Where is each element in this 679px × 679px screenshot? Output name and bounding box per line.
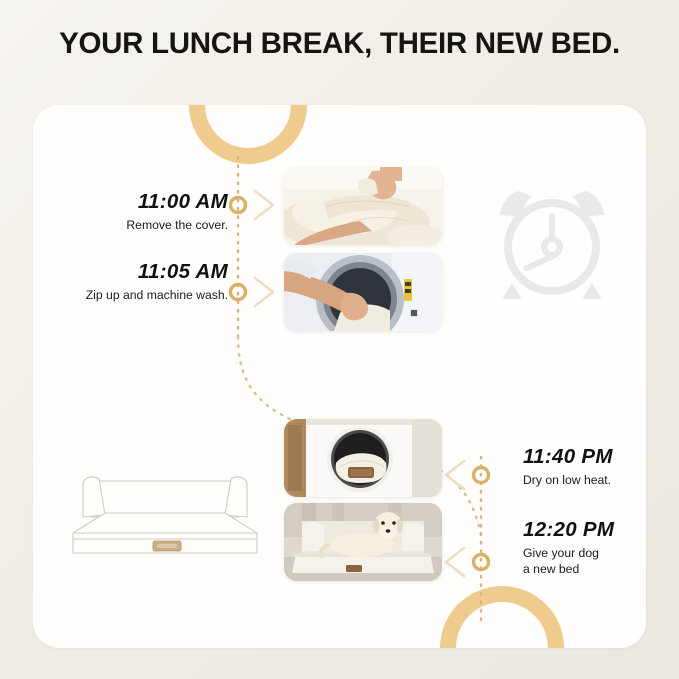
step-1-description: Remove the cover. (73, 217, 228, 233)
step-2-description: Zip up and machine wash. (53, 287, 228, 303)
dog-bed-line-drawing (61, 455, 271, 575)
step-2-time: 11:05 AM (53, 260, 228, 284)
page-title: YOUR LUNCH BREAK, THEIR NEW BED. (0, 27, 679, 61)
step-4-time: 12:20 PM (523, 518, 646, 542)
step-3-text-block: 11:40 PM Dry on low heat. (523, 445, 646, 488)
step-1-time: 11:00 AM (73, 190, 228, 214)
step-3-time: 11:40 PM (523, 445, 646, 469)
step-4-description: Give your dog a new bed (523, 545, 646, 577)
step-2-text-block: 11:05 AM Zip up and machine wash. (53, 260, 228, 303)
infographic-card: 11:00 AM Remove the cover. 11:05 AM Zip … (33, 105, 646, 648)
dryer-photo (284, 419, 442, 497)
alarm-clock-icon (488, 175, 616, 303)
decorative-arc-bottom-icon (440, 586, 564, 648)
step-4-text-block: 12:20 PM Give your dog a new bed (523, 518, 646, 577)
dog-on-bed-photo (284, 503, 442, 581)
removing-cover-photo (284, 167, 442, 245)
loading-washer-photo (284, 253, 442, 331)
decorative-arc-top-icon (189, 105, 307, 164)
step-1-text-block: 11:00 AM Remove the cover. (73, 190, 228, 233)
step-3-description: Dry on low heat. (523, 472, 646, 488)
